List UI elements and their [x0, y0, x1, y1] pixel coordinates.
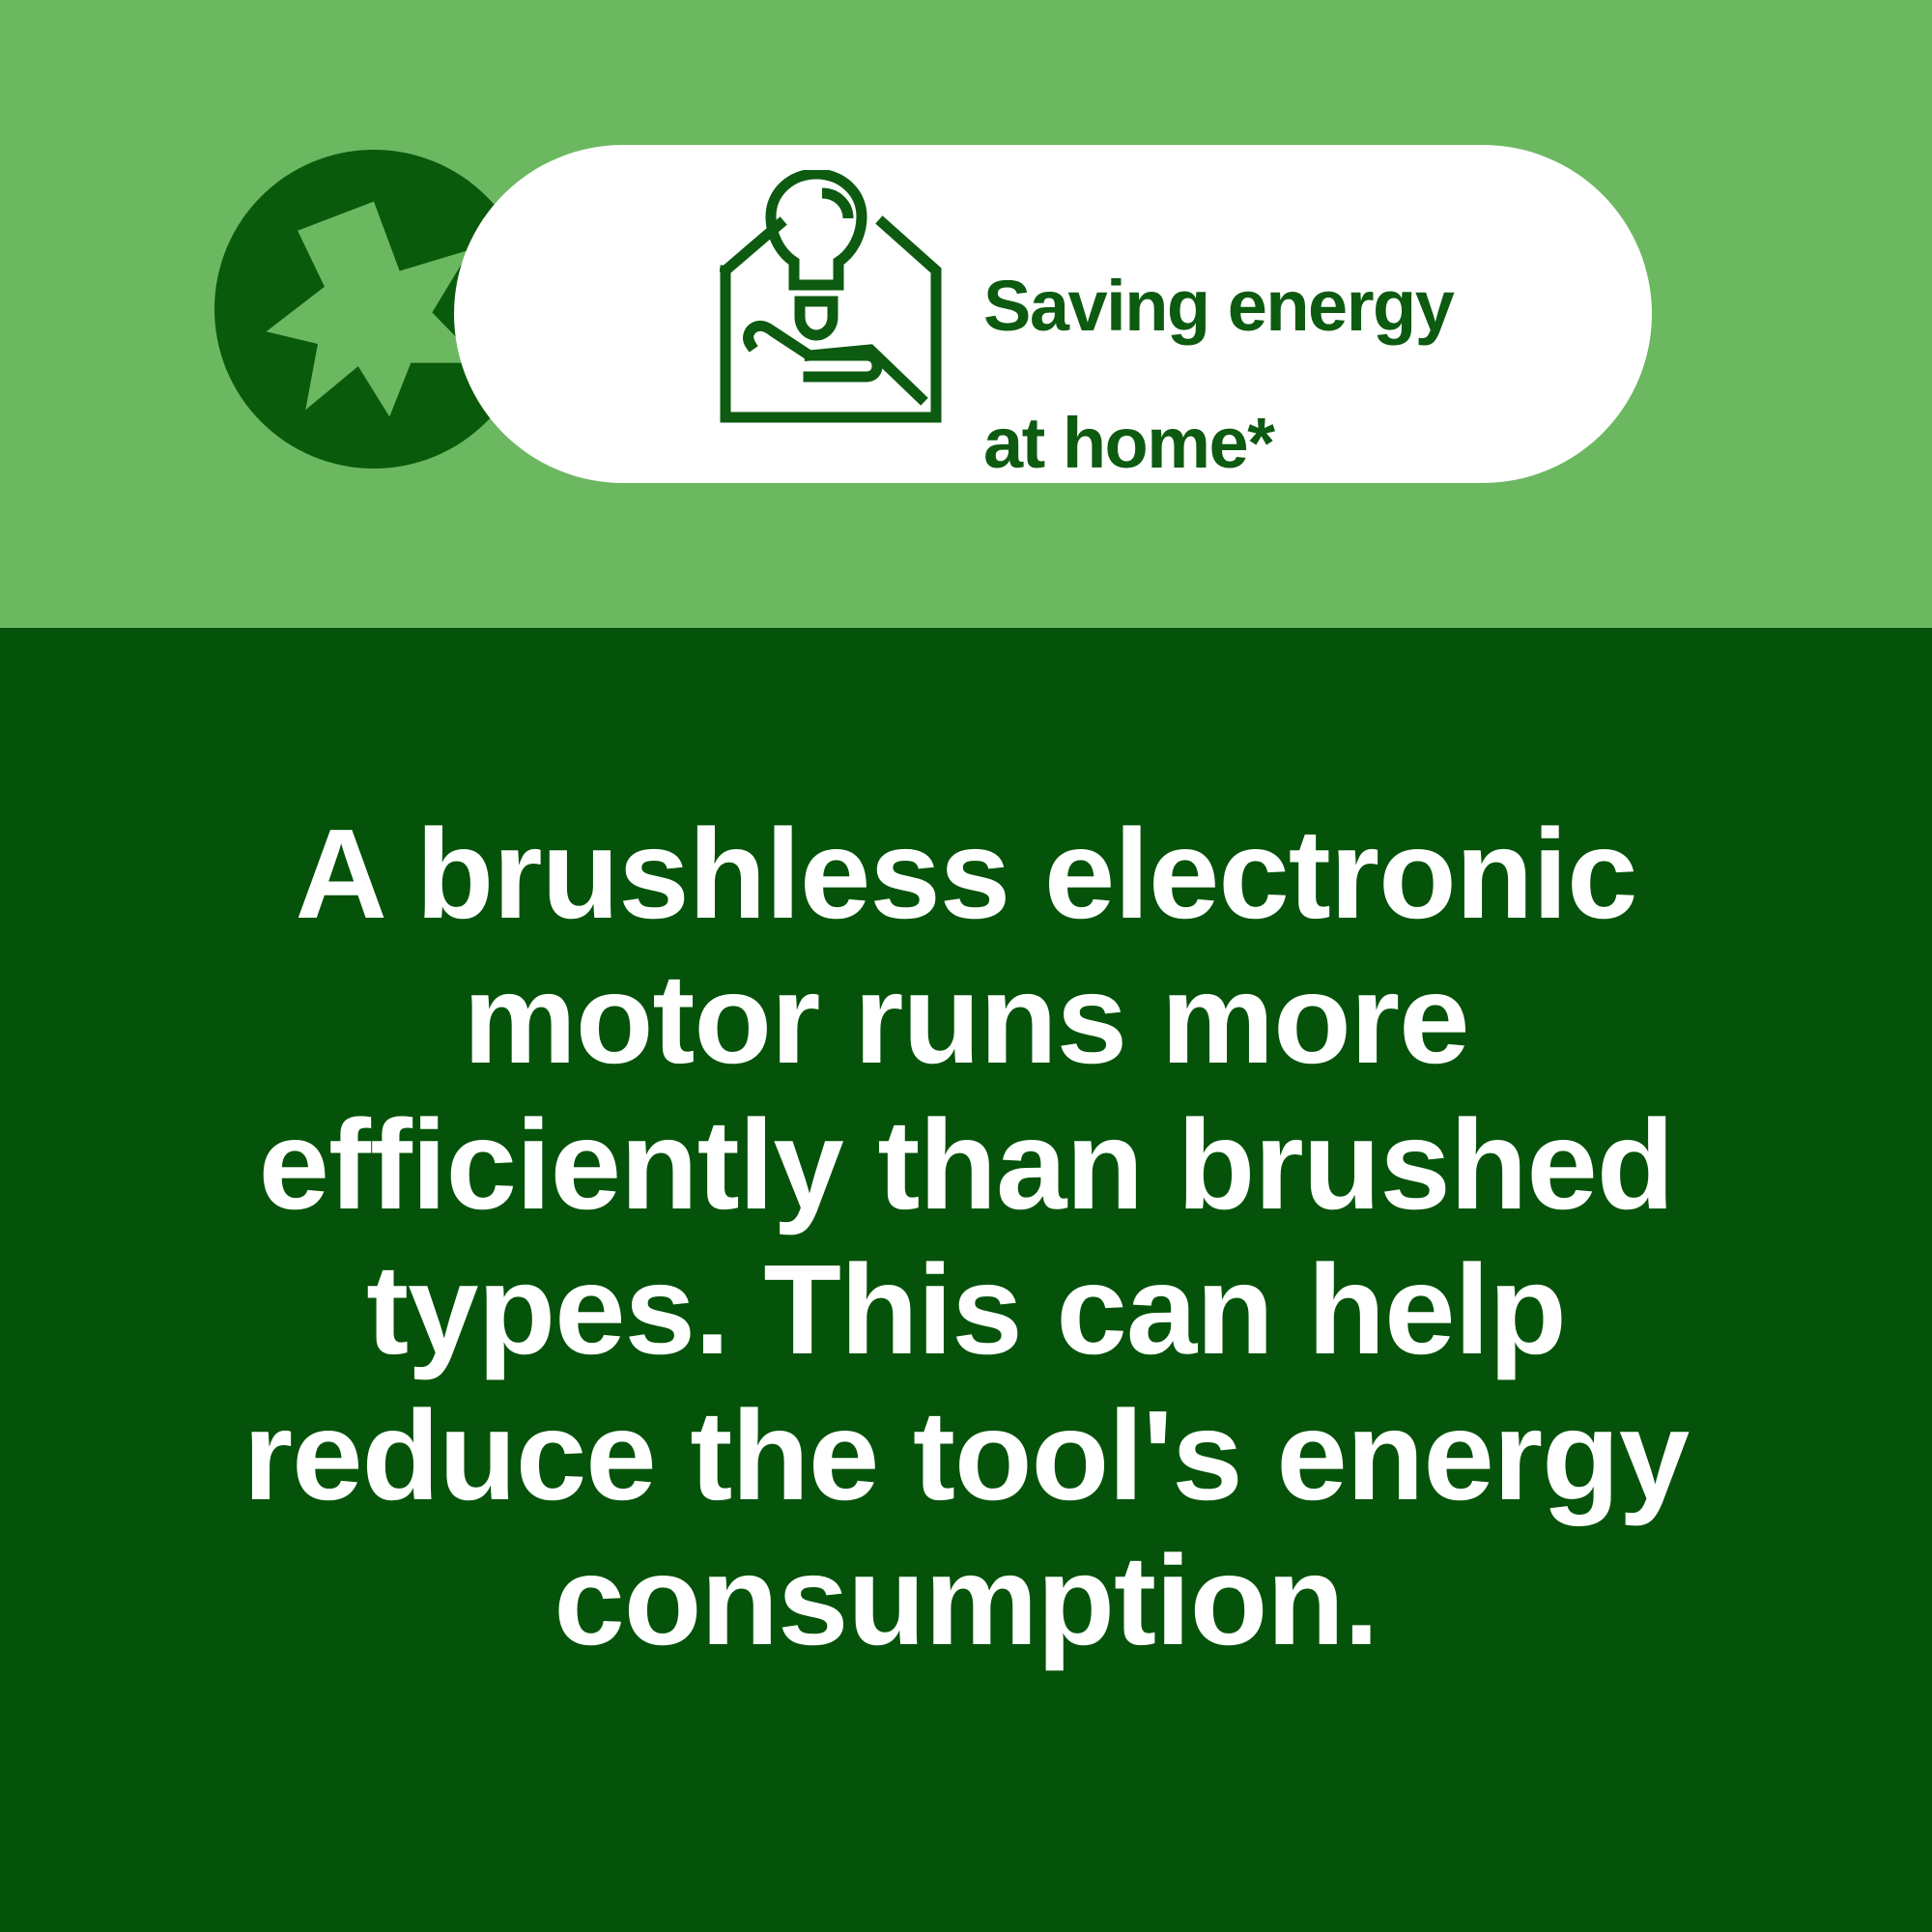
pill-title-line-2: at home*	[983, 409, 1453, 477]
pill-title-line-1: Saving energy	[983, 271, 1453, 340]
body-line: consumption.	[97, 1528, 1835, 1673]
body-line: efficiently than brushed	[97, 1093, 1835, 1237]
promo-card: Saving energy at home* A brushless elect…	[0, 0, 1932, 1932]
body-line: motor runs more	[97, 947, 1835, 1092]
saving-energy-pill: Saving energy at home*	[454, 145, 1652, 483]
seven-point-star-icon	[262, 197, 486, 421]
body-line: A brushless electronic	[97, 802, 1835, 947]
body-line: reduce the tool's energy	[97, 1383, 1835, 1528]
body-line: types. This can help	[97, 1237, 1835, 1382]
body-copy: A brushless electronic motor runs more e…	[97, 802, 1835, 1674]
house-lightbulb-hand-icon	[720, 170, 942, 423]
pill-title: Saving energy at home*	[983, 203, 1453, 546]
